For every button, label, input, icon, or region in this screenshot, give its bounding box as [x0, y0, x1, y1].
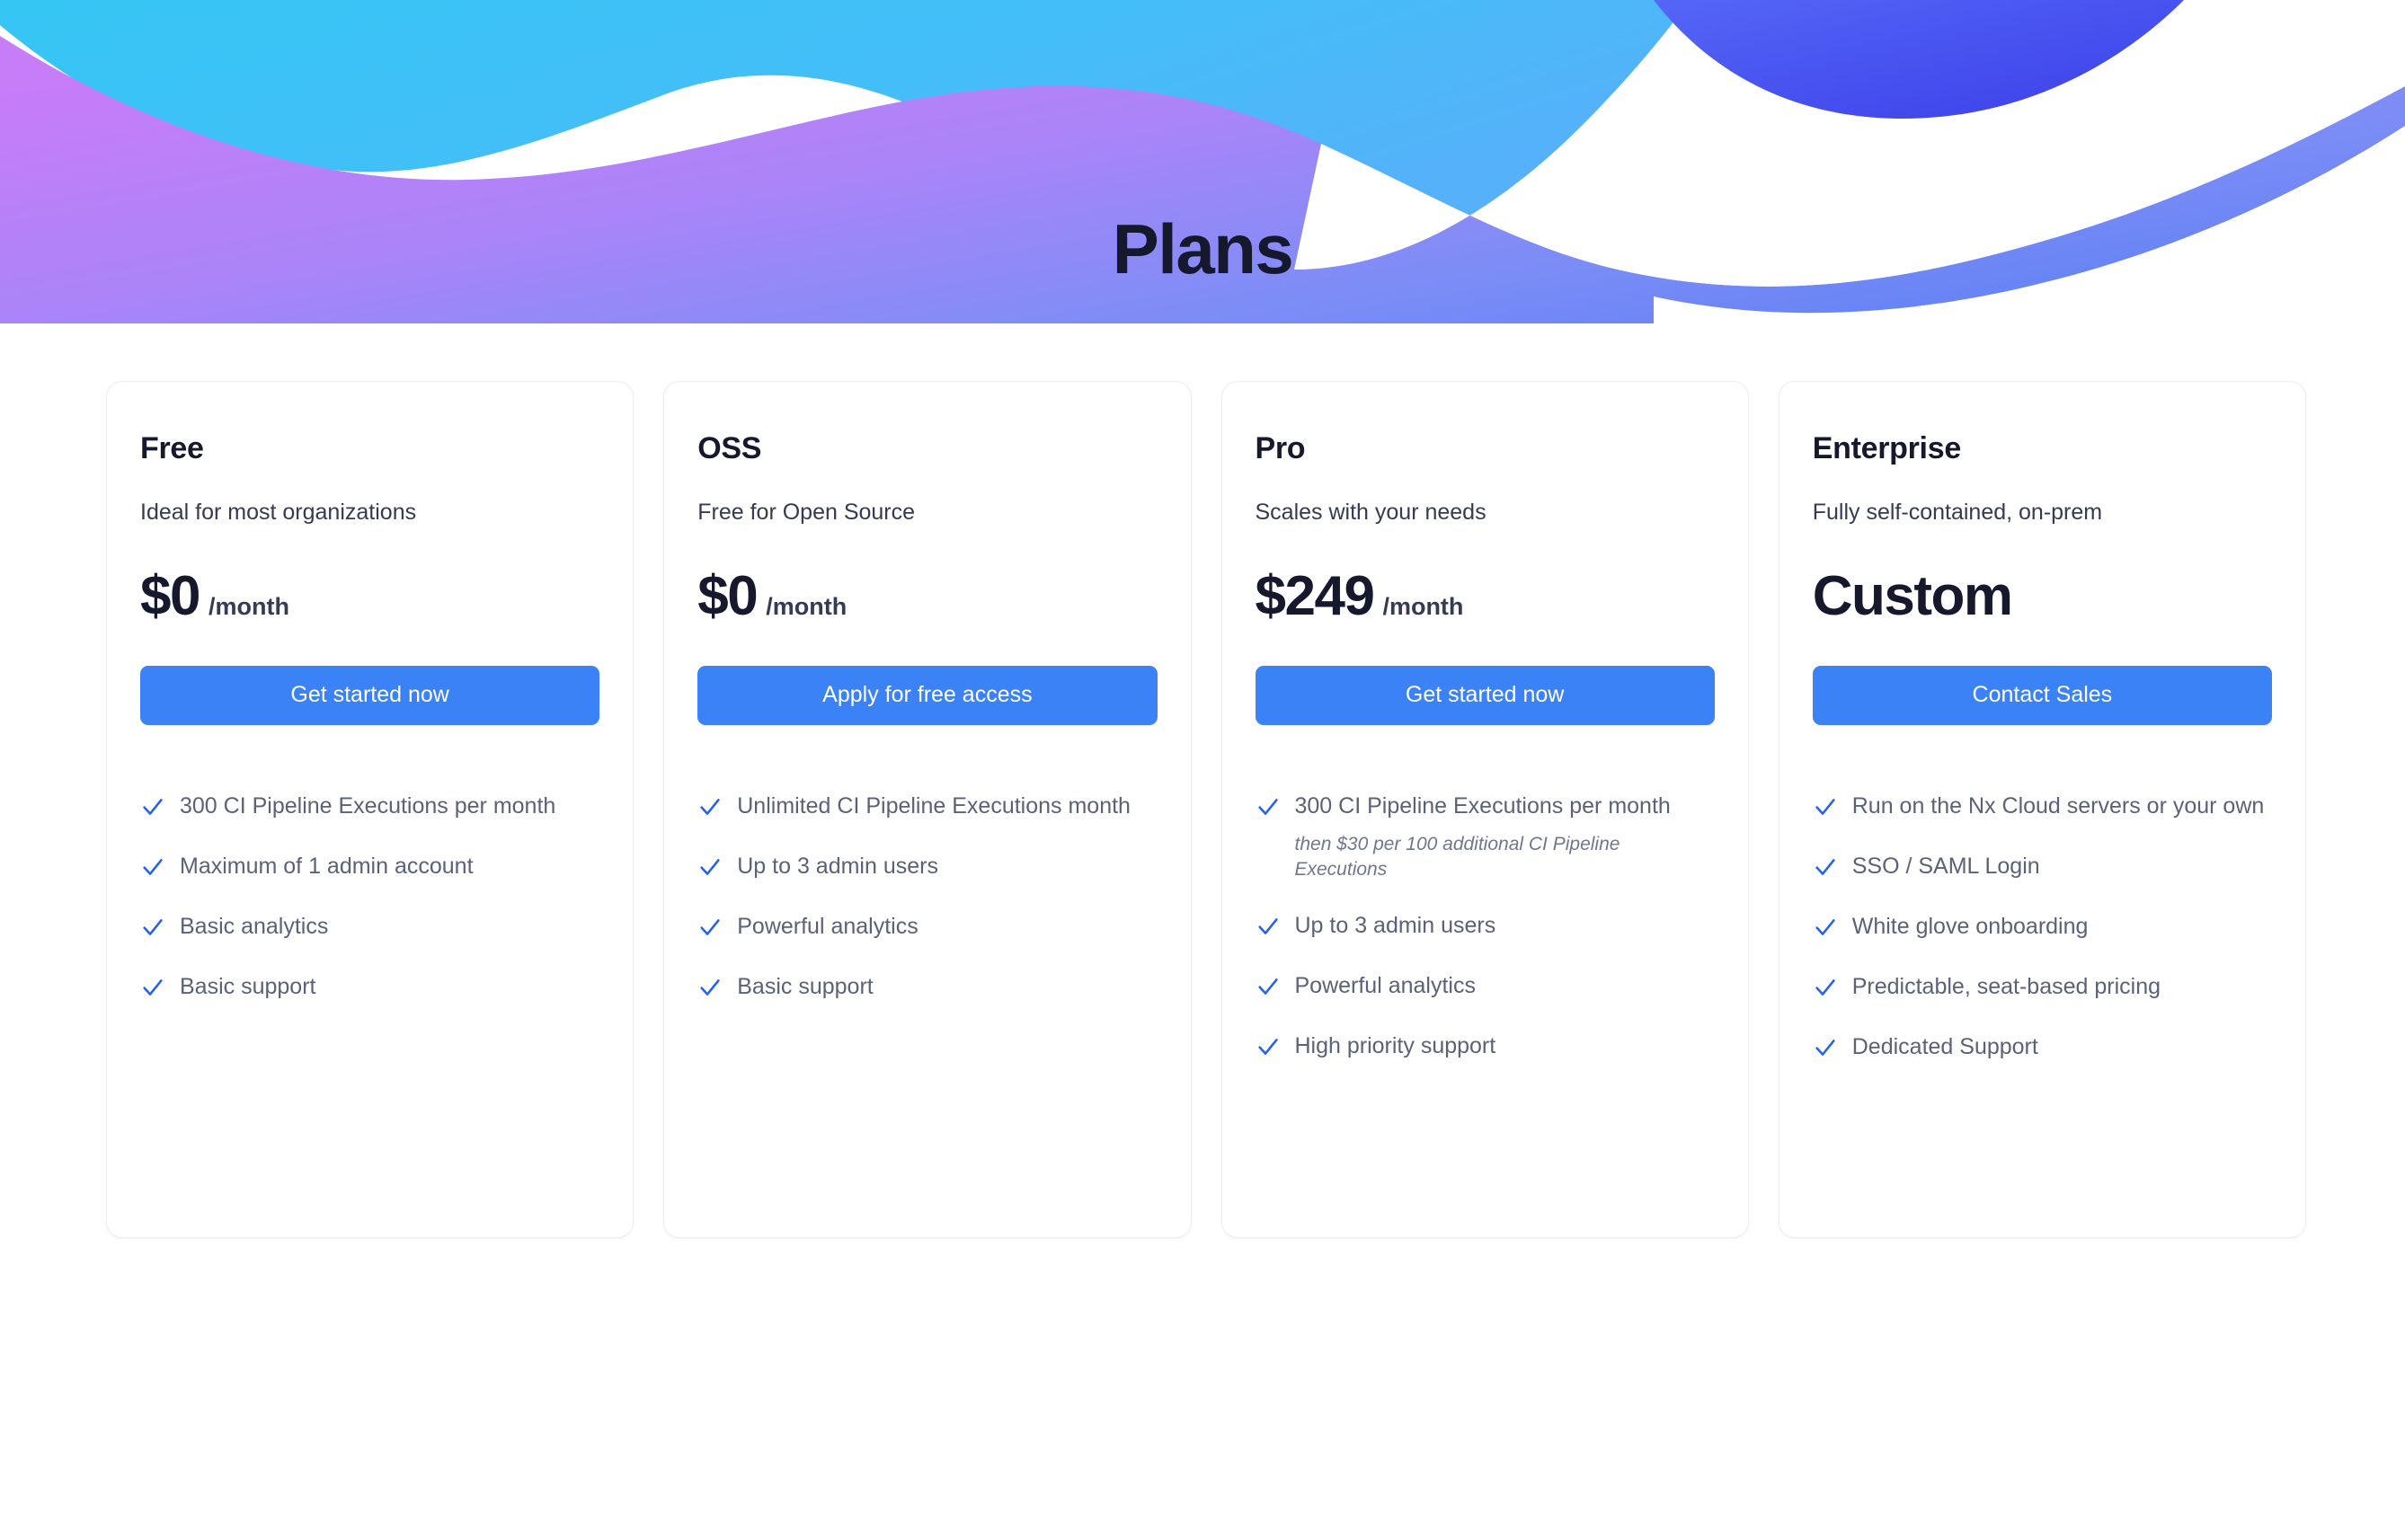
check-icon [140, 975, 165, 1000]
plan-price: Custom [1813, 569, 2012, 624]
check-icon [1813, 915, 1838, 940]
check-icon [140, 854, 165, 880]
plan-tagline: Scales with your needs [1256, 498, 1715, 527]
feature-text: Maximum of 1 admin account [180, 850, 474, 883]
plan-period: /month [209, 595, 289, 619]
feature-item: Basic analytics [140, 910, 599, 943]
feature-text: White glove onboarding [1852, 910, 2089, 943]
feature-item: Powerful analytics [697, 910, 1157, 943]
feature-text: High priority support [1295, 1030, 1496, 1063]
feature-note: then $30 per 100 additional CI Pipeline … [1295, 832, 1715, 882]
plan-price: $0 [697, 569, 757, 624]
feature-item: Predictable, seat-based pricing [1813, 970, 2272, 1004]
pricing-page: Plans Free Ideal for most organizations … [0, 0, 2405, 1540]
check-icon [697, 794, 723, 819]
plan-price: $0 [140, 569, 200, 624]
feature-text: SSO / SAML Login [1852, 850, 2040, 883]
feature-list: 300 CI Pipeline Executions per month the… [1256, 790, 1715, 1063]
feature-item: Up to 3 admin users [697, 850, 1157, 883]
feature-text: Basic support [180, 970, 315, 1004]
plan-cta-button[interactable]: Get started now [1256, 666, 1715, 725]
feature-text: Basic analytics [180, 910, 328, 943]
plan-tagline: Ideal for most organizations [140, 498, 599, 527]
feature-text: Powerful analytics [737, 910, 918, 943]
check-icon [697, 854, 723, 880]
feature-text: Unlimited CI Pipeline Executions month [737, 790, 1131, 823]
feature-item: High priority support [1256, 1030, 1715, 1063]
feature-item: Basic support [697, 970, 1157, 1004]
check-icon [1256, 914, 1281, 939]
feature-item: Maximum of 1 admin account [140, 850, 599, 883]
feature-item: SSO / SAML Login [1813, 850, 2272, 883]
check-icon [1256, 1034, 1281, 1059]
check-icon [1813, 854, 1838, 880]
page-title: Plans [0, 208, 2405, 290]
feature-item: Up to 3 admin users [1256, 909, 1715, 943]
feature-item: Dedicated Support [1813, 1031, 2272, 1064]
check-icon [1256, 794, 1281, 819]
check-icon [1813, 1035, 1838, 1060]
plan-price-row: $0 /month [140, 569, 599, 633]
plan-price: $249 [1256, 569, 1374, 624]
feature-text: Up to 3 admin users [1295, 909, 1496, 943]
feature-text: 300 CI Pipeline Executions per month [180, 790, 555, 823]
check-icon [1813, 794, 1838, 819]
plan-period: /month [766, 595, 847, 619]
plan-cta-button[interactable]: Contact Sales [1813, 666, 2272, 725]
feature-list: 300 CI Pipeline Executions per month Max… [140, 790, 599, 1004]
feature-text: Powerful analytics [1295, 969, 1476, 1003]
feature-text: 300 CI Pipeline Executions per month [1295, 790, 1671, 823]
feature-item: Basic support [140, 970, 599, 1004]
check-icon [697, 915, 723, 940]
plan-price-row: $249 /month [1256, 569, 1715, 633]
feature-text: Run on the Nx Cloud servers or your own [1852, 790, 2265, 823]
plan-tagline: Free for Open Source [697, 498, 1157, 527]
feature-item: Unlimited CI Pipeline Executions month [697, 790, 1157, 823]
plan-card-enterprise: Enterprise Fully self-contained, on-prem… [1779, 381, 2306, 1238]
plan-card-free: Free Ideal for most organizations $0 /mo… [106, 381, 634, 1238]
plan-cta-button[interactable]: Apply for free access [697, 666, 1157, 725]
plan-cta-button[interactable]: Get started now [140, 666, 599, 725]
feature-text: Basic support [737, 970, 873, 1004]
check-icon [1256, 974, 1281, 999]
feature-text: Dedicated Support [1852, 1031, 2038, 1064]
plans-row: Free Ideal for most organizations $0 /mo… [106, 381, 2306, 1238]
plan-name: Enterprise [1813, 432, 2272, 465]
plan-name: Free [140, 432, 599, 465]
plan-period: /month [1382, 595, 1463, 619]
feature-item: 300 CI Pipeline Executions per month the… [1256, 790, 1715, 882]
feature-item: 300 CI Pipeline Executions per month [140, 790, 599, 823]
plan-name: Pro [1256, 432, 1715, 465]
plan-price-row: $0 /month [697, 569, 1157, 633]
feature-text: Up to 3 admin users [737, 850, 938, 883]
check-icon [140, 915, 165, 940]
check-icon [697, 975, 723, 1000]
feature-list: Unlimited CI Pipeline Executions month U… [697, 790, 1157, 1004]
feature-item: Powerful analytics [1256, 969, 1715, 1003]
feature-item: White glove onboarding [1813, 910, 2272, 943]
check-icon [1813, 975, 1838, 1000]
plan-card-pro: Pro Scales with your needs $249 /month G… [1221, 381, 1749, 1238]
plan-card-oss: OSS Free for Open Source $0 /month Apply… [663, 381, 1191, 1238]
feature-list: Run on the Nx Cloud servers or your own … [1813, 790, 2272, 1064]
plan-price-row: Custom [1813, 569, 2272, 633]
check-icon [140, 794, 165, 819]
feature-text: Predictable, seat-based pricing [1852, 970, 2161, 1004]
feature-item: Run on the Nx Cloud servers or your own [1813, 790, 2272, 823]
plan-tagline: Fully self-contained, on-prem [1813, 498, 2272, 527]
plan-name: OSS [697, 432, 1157, 465]
